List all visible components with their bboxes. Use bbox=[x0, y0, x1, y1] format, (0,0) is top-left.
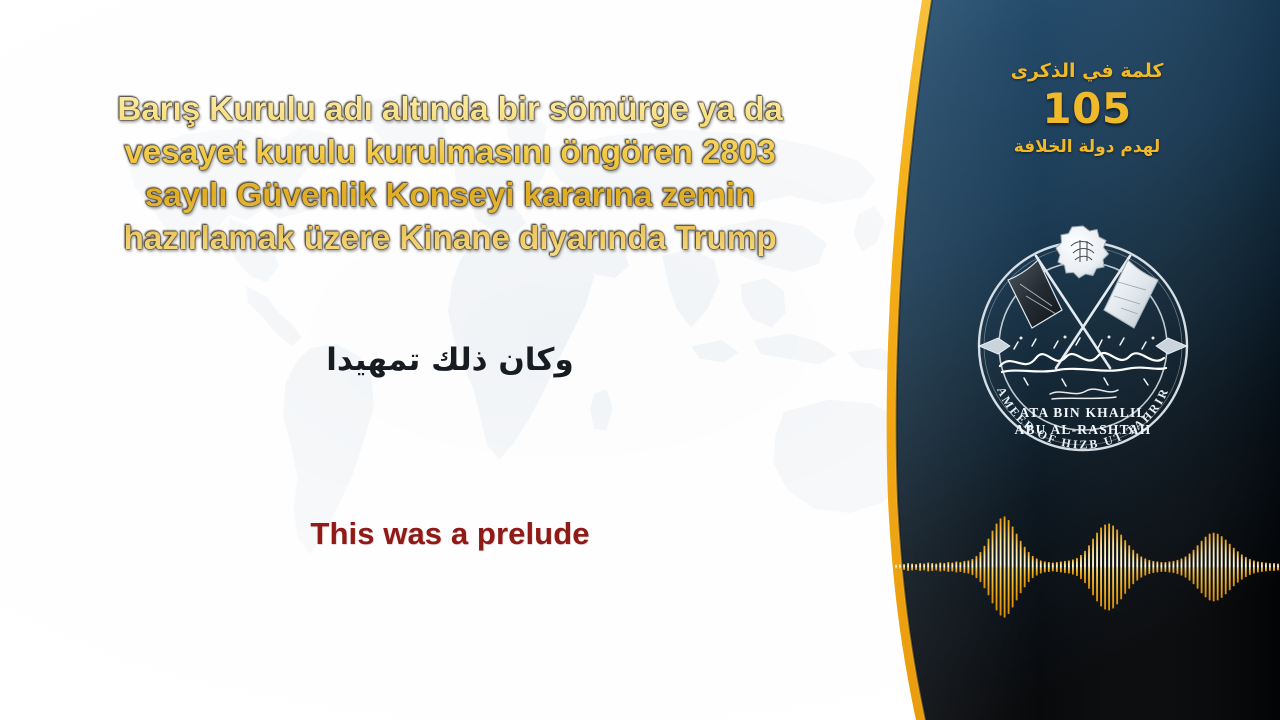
turkish-subtitle-line-4: hazırlamak üzere Kinane diyarında Trump bbox=[40, 217, 860, 260]
subtitle-area: Barış Kurulu adı altında bir sömürge ya … bbox=[0, 0, 900, 720]
panel-header-number: 105 bbox=[922, 84, 1252, 134]
turkish-subtitle-line-1: Barış Kurulu adı altında bir sömürge ya … bbox=[40, 88, 860, 131]
arabic-subtitle: وكان ذلك تمهيدا bbox=[40, 338, 860, 382]
panel-header-title: كلمة في الذكرى bbox=[922, 58, 1252, 84]
emblem-calligraphy bbox=[1000, 336, 1166, 400]
turkish-subtitle-line-3: sayılı Güvenlik Konseyi kararına zemin bbox=[40, 174, 860, 217]
branding-panel: كلمة في الذكرى 105 لهدم دولة الخلافة bbox=[880, 0, 1280, 720]
panel-header: كلمة في الذكرى 105 لهدم دولة الخلافة bbox=[922, 58, 1252, 160]
english-subtitle: This was a prelude bbox=[40, 513, 860, 555]
audio-waveform bbox=[894, 512, 1280, 622]
hizb-ut-tahrir-seal-icon: ATA BIN KHALIL ABU AL-RASHTAH AMEER OF H… bbox=[958, 218, 1208, 468]
video-frame: Barış Kurulu adı altında bir sömürge ya … bbox=[0, 0, 1280, 720]
turkish-subtitle: Barış Kurulu adı altında bir sömürge ya … bbox=[40, 88, 860, 260]
panel-header-subtitle: لهدم دولة الخلافة bbox=[922, 134, 1252, 160]
emblem-name-line-1: ATA BIN KHALIL bbox=[1019, 405, 1146, 420]
turkish-subtitle-line-2: vesayet kurulu kurulmasını öngören 2803 bbox=[40, 131, 860, 174]
